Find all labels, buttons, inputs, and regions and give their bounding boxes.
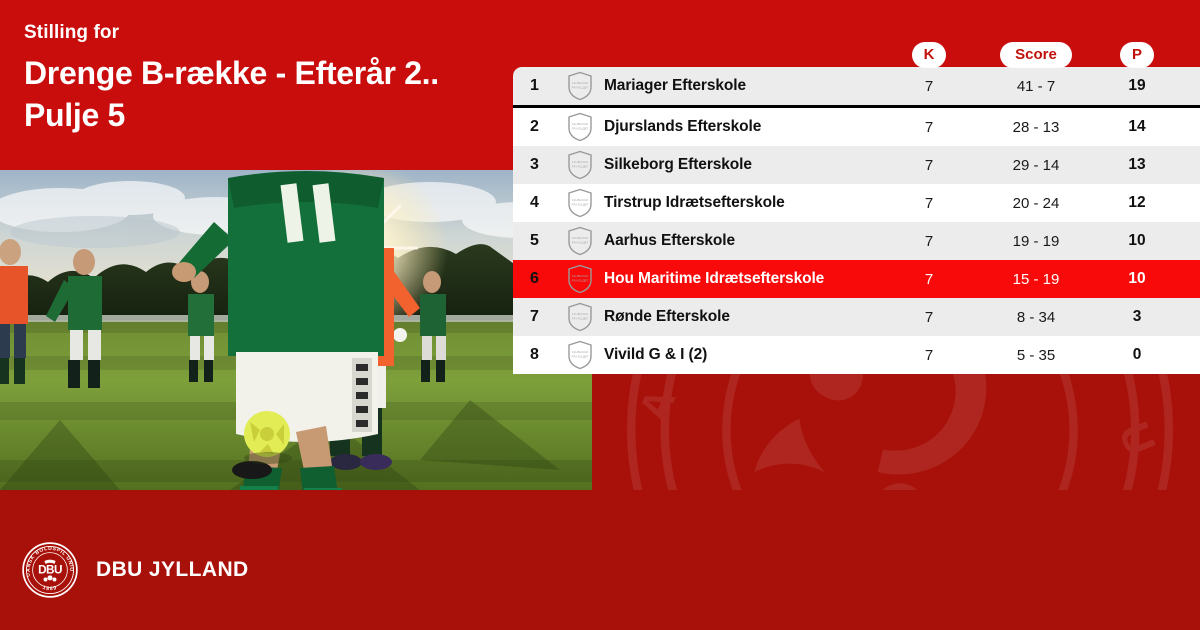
club-crest-icon: KLUBLOGOPÅ HOLДЕТ xyxy=(567,264,593,294)
table-column-headers: K Score P xyxy=(513,42,1200,68)
row-points: 19 xyxy=(1120,77,1154,95)
football-match-photo xyxy=(0,170,592,490)
svg-text:1889: 1889 xyxy=(42,585,59,592)
svg-text:PÅ HOLДЕТ: PÅ HOLДЕТ xyxy=(572,278,589,283)
row-rank: 1 xyxy=(513,77,556,95)
brand-name: DBU JYLLAND xyxy=(96,558,249,582)
row-rank: 2 xyxy=(513,118,556,136)
dbu-emblem-icon: D DANSK BOLDSPIL UNION 1889 DBU xyxy=(22,542,78,598)
standings-table: 1KLUBLOGOPÅ HOLДЕТMariager Efterskole741… xyxy=(513,67,1200,374)
svg-text:PÅ HOLДЕТ: PÅ HOLДЕТ xyxy=(572,164,589,169)
row-points: 14 xyxy=(1120,118,1154,136)
row-goal-score: 41 - 7 xyxy=(1000,78,1072,95)
row-club-crest: KLUBLOGOPÅ HOLДЕТ xyxy=(556,188,604,218)
row-club-crest: KLUBLOGOPÅ HOLДЕТ xyxy=(556,226,604,256)
row-matches-played: 7 xyxy=(912,347,946,364)
row-club-crest: KLUBLOGOPÅ HOLДЕТ xyxy=(556,264,604,294)
row-points: 3 xyxy=(1120,308,1154,326)
row-club-crest: KLUBLOGOPÅ HOLДЕТ xyxy=(556,71,604,101)
page-title: Drenge B-række - Efterår 2.. Pulje 5 xyxy=(24,52,524,136)
table-row[interactable]: 8KLUBLOGOPÅ HOLДЕТVivild G & I (2)75 - 3… xyxy=(513,336,1200,374)
row-matches-played: 7 xyxy=(912,78,946,95)
table-row[interactable]: 1KLUBLOGOPÅ HOLДЕТMariager Efterskole741… xyxy=(513,67,1200,108)
row-goal-score: 19 - 19 xyxy=(1000,233,1072,250)
table-row[interactable]: 4KLUBLOGOPÅ HOLДЕТTirstrup Idrætseftersk… xyxy=(513,184,1200,222)
svg-text:KLUBLOGO: KLUBLOGO xyxy=(572,236,589,240)
row-goal-score: 5 - 35 xyxy=(1000,347,1072,364)
row-team-name: Djurslands Efterskole xyxy=(604,118,1200,136)
svg-text:U: U xyxy=(1110,416,1165,462)
row-goal-score: 8 - 34 xyxy=(1000,309,1072,326)
row-matches-played: 7 xyxy=(912,119,946,136)
svg-text:KLUBLOGO: KLUBLOGO xyxy=(572,81,589,85)
row-team-name: Silkeborg Efterskole xyxy=(604,156,1200,174)
row-points: 10 xyxy=(1120,270,1154,288)
table-row[interactable]: 2KLUBLOGOPÅ HOLДЕТDjurslands Efterskole7… xyxy=(513,108,1200,146)
svg-text:PÅ HOLДЕТ: PÅ HOLДЕТ xyxy=(572,202,589,207)
row-matches-played: 7 xyxy=(912,195,946,212)
svg-text:D: D xyxy=(26,573,30,579)
svg-text:DBU: DBU xyxy=(38,563,62,576)
club-crest-icon: KLUBLOGOPÅ HOLДЕТ xyxy=(567,71,593,101)
row-rank: 3 xyxy=(513,156,556,174)
svg-text:PÅ HOLДЕТ: PÅ HOLДЕТ xyxy=(572,85,589,90)
row-club-crest: KLUBLOGOPÅ HOLДЕТ xyxy=(556,150,604,180)
eyebrow-label: Stilling for xyxy=(24,22,119,44)
row-team-name: Hou Maritime Idrætsefterskole xyxy=(604,270,1200,288)
row-goal-score: 20 - 24 xyxy=(1000,195,1072,212)
row-rank: 6 xyxy=(513,270,556,288)
svg-text:PÅ HOLДЕТ: PÅ HOLДЕТ xyxy=(572,354,589,359)
table-row[interactable]: 5KLUBLOGOPÅ HOLДЕТAarhus Efterskole719 -… xyxy=(513,222,1200,260)
row-matches-played: 7 xyxy=(912,271,946,288)
row-team-name: Rønde Efterskole xyxy=(604,308,1200,326)
club-crest-icon: KLUBLOGOPÅ HOLДЕТ xyxy=(567,226,593,256)
column-header-points: P xyxy=(1120,42,1154,68)
club-crest-icon: KLUBLOGOPÅ HOLДЕТ xyxy=(567,112,593,142)
svg-text:KLUBLOGO: KLUBLOGO xyxy=(572,160,589,164)
row-points: 10 xyxy=(1120,232,1154,250)
row-points: 0 xyxy=(1120,346,1154,364)
column-header-score: Score xyxy=(1000,42,1072,68)
svg-text:KLUBLOGO: KLUBLOGO xyxy=(572,312,589,316)
page-title-line-2: Pulje 5 xyxy=(24,94,524,136)
row-club-crest: KLUBLOGOPÅ HOLДЕТ xyxy=(556,112,604,142)
row-rank: 7 xyxy=(513,308,556,326)
table-row[interactable]: 3KLUBLOGOPÅ HOLДЕТSilkeborg Efterskole72… xyxy=(513,146,1200,184)
row-matches-played: 7 xyxy=(912,309,946,326)
club-crest-icon: KLUBLOGOPÅ HOLДЕТ xyxy=(567,150,593,180)
row-club-crest: KLUBLOGOPÅ HOLДЕТ xyxy=(556,302,604,332)
svg-text:KLUBLOGO: KLUBLOGO xyxy=(572,198,589,202)
row-team-name: Aarhus Efterskole xyxy=(604,232,1200,250)
table-row[interactable]: 7KLUBLOGOPÅ HOLДЕТRønde Efterskole78 - 3… xyxy=(513,298,1200,336)
row-team-name: Vivild G & I (2) xyxy=(604,346,1200,364)
row-points: 12 xyxy=(1120,194,1154,212)
club-crest-icon: KLUBLOGOPÅ HOLДЕТ xyxy=(567,302,593,332)
row-goal-score: 15 - 19 xyxy=(1000,271,1072,288)
row-goal-score: 28 - 13 xyxy=(1000,119,1072,136)
club-crest-icon: KLUBLOGOPÅ HOLДЕТ xyxy=(567,340,593,370)
svg-text:PÅ HOLДЕТ: PÅ HOLДЕТ xyxy=(572,316,589,321)
svg-text:PÅ HOLДЕТ: PÅ HOLДЕТ xyxy=(572,126,589,131)
row-team-name: Tirstrup Idrætsefterskole xyxy=(604,194,1200,212)
table-row[interactable]: 6KLUBLOGOPÅ HOLДЕТHou Maritime Idrætseft… xyxy=(513,260,1200,298)
row-points: 13 xyxy=(1120,156,1154,174)
row-goal-score: 29 - 14 xyxy=(1000,157,1072,174)
row-team-name: Mariager Efterskole xyxy=(604,77,1200,95)
page-title-line-1: Drenge B-række - Efterår 2.. xyxy=(24,52,524,94)
row-rank: 5 xyxy=(513,232,556,250)
row-rank: 4 xyxy=(513,194,556,212)
svg-text:KLUBLOGO: KLUBLOGO xyxy=(572,122,589,126)
row-club-crest: KLUBLOGOPÅ HOLДЕТ xyxy=(556,340,604,370)
svg-text:A: A xyxy=(630,382,685,428)
club-crest-icon: KLUBLOGOPÅ HOLДЕТ xyxy=(567,188,593,218)
row-matches-played: 7 xyxy=(912,157,946,174)
footer-brand: D DANSK BOLDSPIL UNION 1889 DBU DBU JYLL… xyxy=(22,542,249,598)
row-rank: 8 xyxy=(513,346,556,364)
svg-text:KLUBLOGO: KLUBLOGO xyxy=(572,350,589,354)
column-header-played: K xyxy=(912,42,946,68)
svg-text:KLUBLOGO: KLUBLOGO xyxy=(572,274,589,278)
svg-text:PÅ HOLДЕТ: PÅ HOLДЕТ xyxy=(572,240,589,245)
row-matches-played: 7 xyxy=(912,233,946,250)
